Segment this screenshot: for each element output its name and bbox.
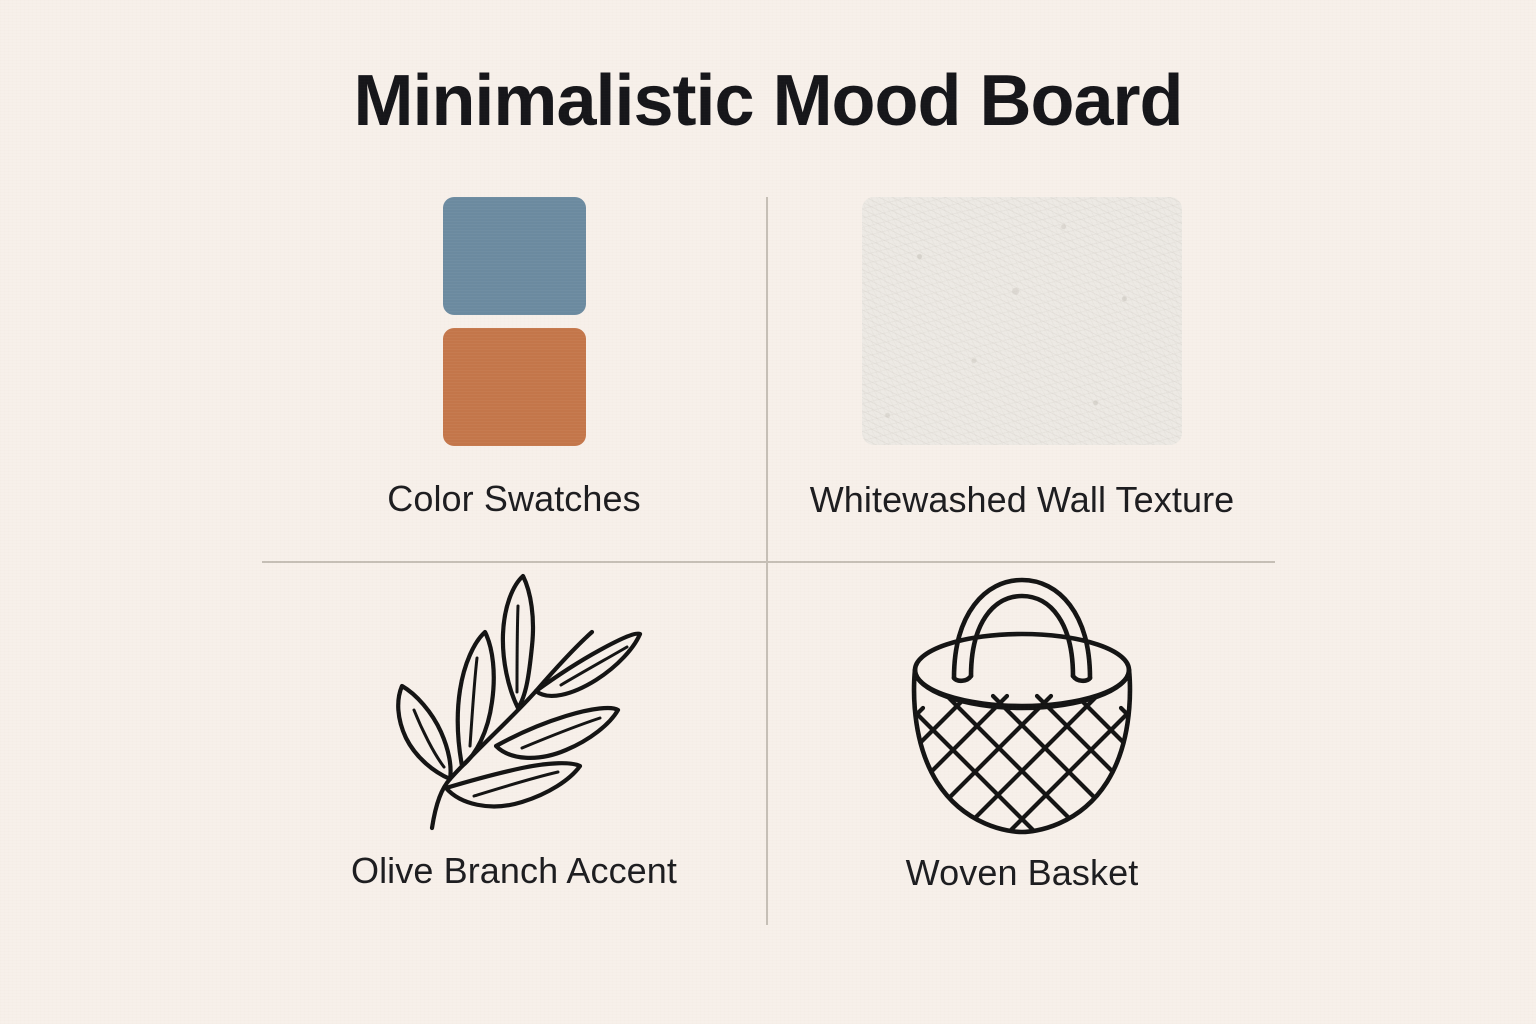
swatch-slate-blue[interactable] [443, 197, 586, 315]
quadrant-woven-basket[interactable]: Woven Basket [772, 566, 1272, 926]
woven-basket-visual [897, 566, 1147, 838]
olive-branch-visual [384, 566, 644, 834]
woven-basket-icon [897, 566, 1147, 838]
wall-texture-visual [862, 197, 1182, 445]
olive-branch-icon [384, 566, 644, 834]
label-olive-branch: Olive Branch Accent [351, 850, 677, 892]
page-title: Minimalistic Mood Board [0, 62, 1536, 141]
swatch-terracotta[interactable] [443, 328, 586, 446]
quadrant-wall-texture[interactable]: Whitewashed Wall Texture [772, 197, 1272, 557]
label-woven-basket: Woven Basket [906, 852, 1139, 894]
label-wall-texture: Whitewashed Wall Texture [810, 479, 1235, 521]
label-color-swatches: Color Swatches [387, 478, 641, 520]
quadrant-color-swatches[interactable]: Color Swatches [264, 197, 764, 557]
quadrant-olive-branch[interactable]: Olive Branch Accent [264, 566, 764, 926]
mood-board: Minimalistic Mood Board Color Swatches W… [0, 0, 1536, 1024]
texture-panel[interactable] [862, 197, 1182, 445]
color-swatch-visual [443, 197, 586, 446]
horizontal-divider [262, 561, 1275, 563]
swatch-stack [443, 197, 586, 446]
texture-grain [862, 197, 1182, 445]
